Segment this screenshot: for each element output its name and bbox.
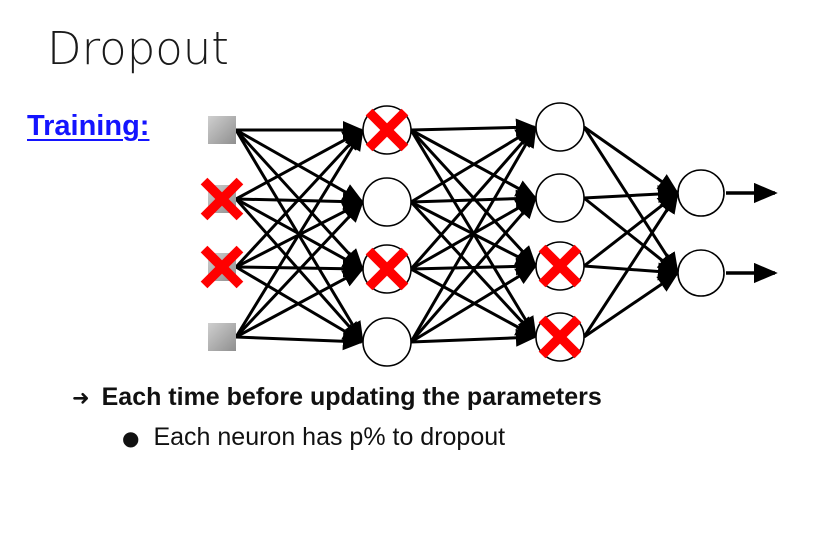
neuron-node-out-1 [678, 170, 724, 216]
input-node-in-1 [208, 116, 236, 144]
neuron-node-h1-2 [363, 178, 411, 226]
network-edge [584, 127, 677, 272]
neuron-node-h2-1 [536, 103, 584, 151]
neural-network-diagram [0, 0, 833, 535]
network-edge [584, 194, 677, 266]
network-edge [411, 266, 535, 269]
network-edges [236, 127, 677, 342]
arrow-bullet-icon: ➜ [72, 388, 90, 409]
network-edge [411, 127, 535, 130]
network-nodes [204, 103, 724, 366]
network-edge [584, 274, 677, 337]
list-item: ● Each neuron has p% to dropout [122, 423, 505, 452]
neuron-node-out-2 [678, 250, 724, 296]
neuron-node-h1-4 [363, 318, 411, 366]
network-edge [584, 198, 677, 272]
network-edge [584, 127, 677, 192]
neuron-node-h2-2 [536, 174, 584, 222]
input-node-in-4 [208, 323, 236, 351]
list-item: ➜ Each time before updating the paramete… [72, 383, 602, 412]
bullet-text-secondary: Each neuron has p% to dropout [153, 423, 505, 452]
dot-bullet-icon: ● [122, 428, 139, 448]
network-edge [411, 337, 535, 342]
slide-canvas: Dropout Training: ➜ Each time before upd… [0, 0, 833, 535]
bullet-text-primary: Each time before updating the parameters [102, 383, 602, 412]
output-arrows [726, 193, 775, 273]
network-edge [236, 337, 362, 342]
